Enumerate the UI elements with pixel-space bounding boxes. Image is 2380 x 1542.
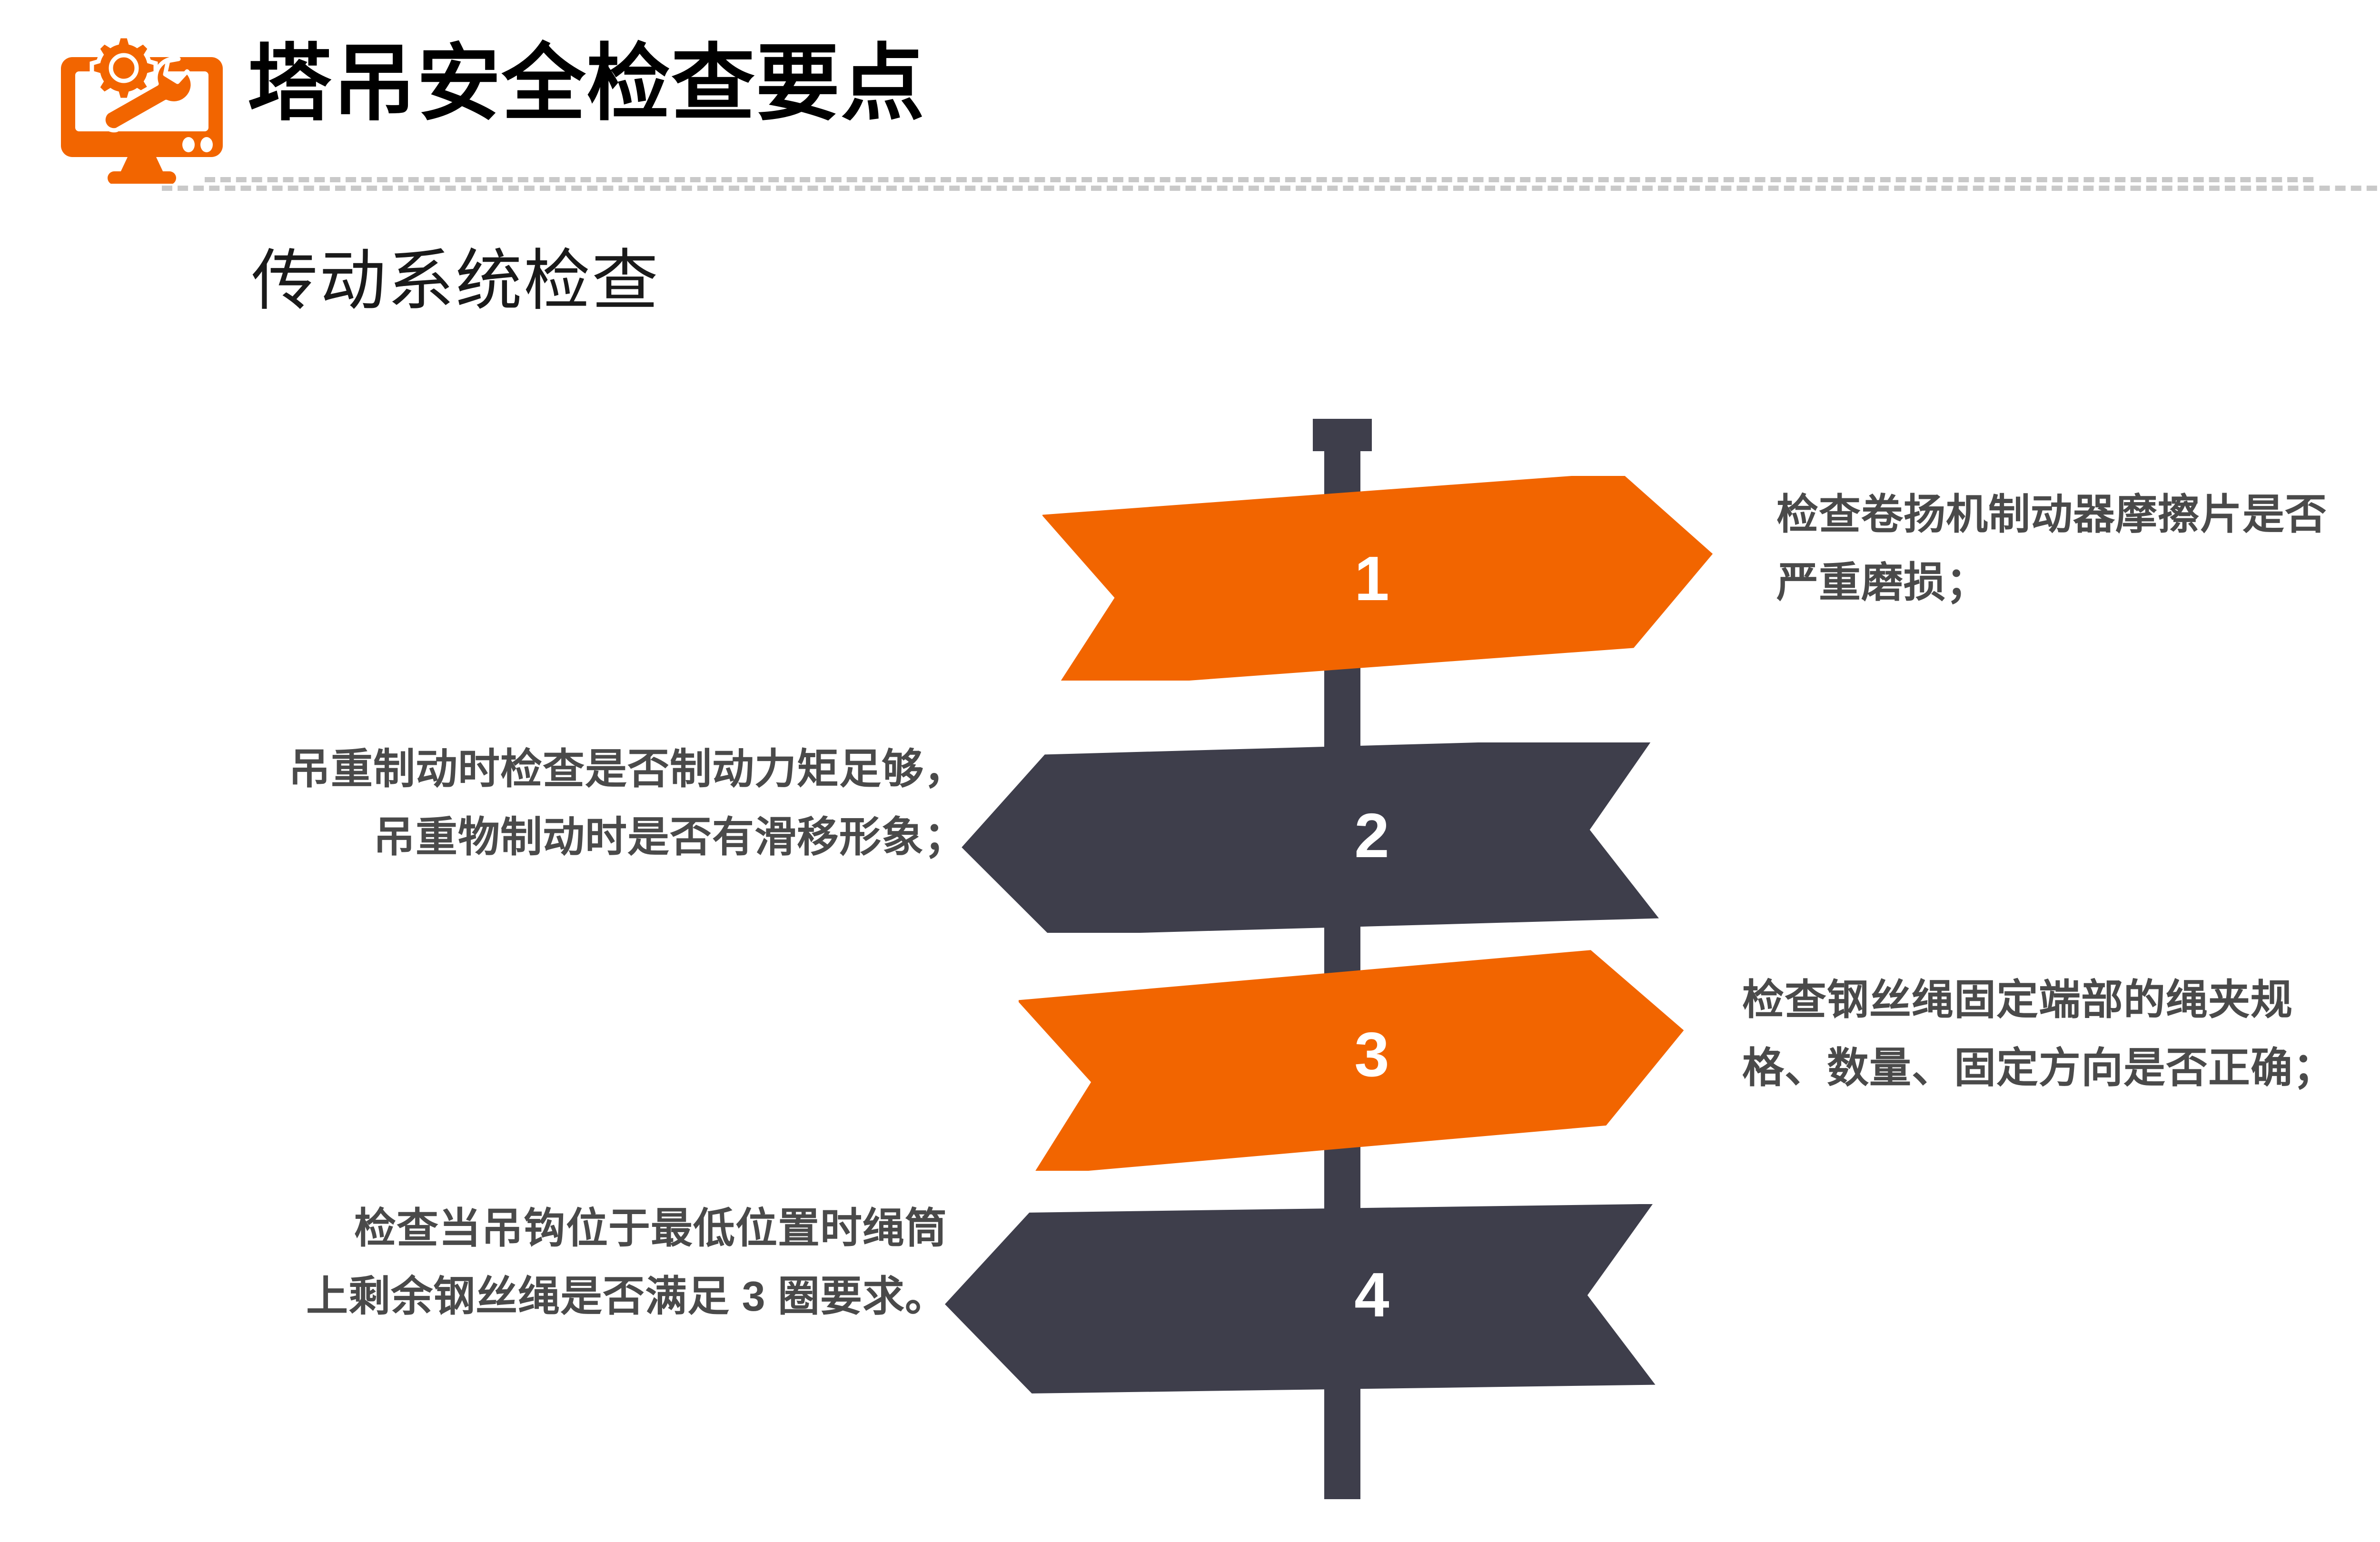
page-header: 塔吊安全检查要点 [0, 0, 2380, 190]
monitor-gear-wrench-icon [61, 36, 223, 184]
header-divider-upper [205, 177, 2313, 182]
signpost-number-2: 2 [1324, 804, 1419, 867]
description-2-line-1: 吊重制动时检查是否制动力矩足够， [71, 735, 966, 803]
signpost-banner-4[interactable] [940, 1204, 1659, 1394]
description-4-line-2: 上剩余钢丝绳是否满足 3 圈要求。 [71, 1263, 947, 1331]
description-1-line-2: 严重磨损； [1776, 549, 2380, 617]
description-3: 检查钢丝绳固定端部的绳夹规 格、数量、固定方向是否正确； [1742, 966, 2380, 1102]
description-4: 检查当吊钩位于最低位置时绳筒 上剩余钢丝绳是否满足 3 圈要求。 [71, 1195, 947, 1330]
description-3-line-1: 检查钢丝绳固定端部的绳夹规 [1742, 966, 2380, 1034]
description-2: 吊重制动时检查是否制动力矩足够， 吊重物制动时是否有滑移形象； [71, 735, 966, 871]
signpost-number-4: 4 [1324, 1264, 1419, 1326]
signpost-pole-cap [1313, 419, 1372, 451]
description-2-line-2: 吊重物制动时是否有滑移形象； [71, 803, 966, 871]
description-1-line-1: 检查卷扬机制动器摩擦片是否 [1776, 481, 2380, 549]
description-3-line-2: 格、数量、固定方向是否正确； [1742, 1034, 2380, 1102]
signpost-pole [1324, 419, 1360, 1499]
header-divider-lower [162, 186, 2380, 191]
description-4-line-1: 检查当吊钩位于最低位置时绳筒 [71, 1195, 947, 1263]
signpost-number-1: 1 [1324, 547, 1419, 610]
signpost-banner-2[interactable] [957, 742, 1661, 933]
page-title: 塔吊安全检查要点 [248, 42, 925, 126]
signpost-number-3: 3 [1324, 1023, 1419, 1086]
signpost-banner-3[interactable] [1019, 947, 1695, 1171]
section-subtitle: 传动系统检查 [251, 247, 660, 314]
signpost-banner-1[interactable] [1042, 476, 1718, 681]
description-1: 检查卷扬机制动器摩擦片是否 严重磨损； [1776, 481, 2380, 616]
